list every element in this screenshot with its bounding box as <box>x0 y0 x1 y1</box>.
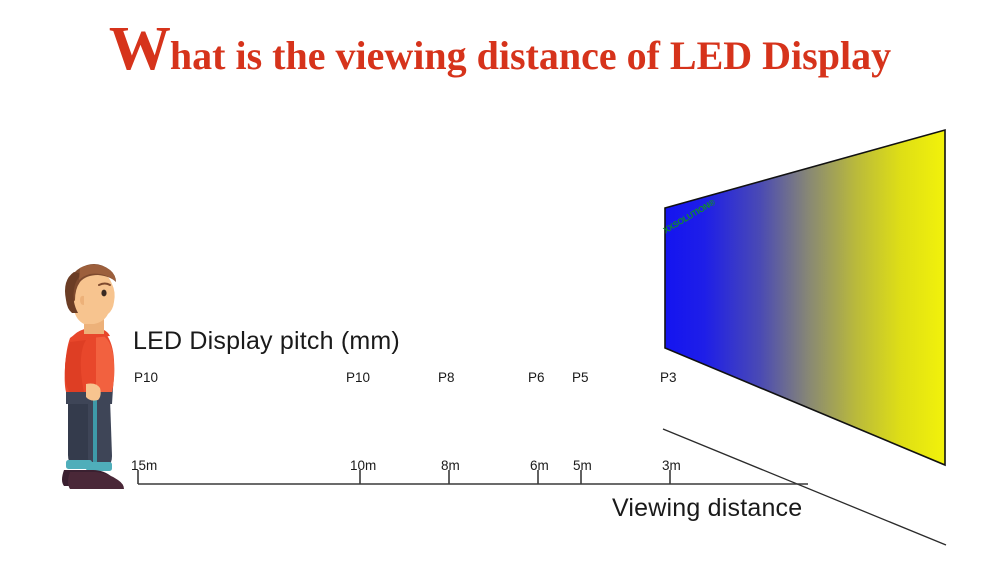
person-sock-front <box>86 462 112 471</box>
pitch-axis-label: LED Display pitch (mm) <box>133 327 400 356</box>
diagram-svg <box>0 0 1000 563</box>
distance-label-5: 5m <box>573 458 592 473</box>
distance-axis <box>138 470 808 484</box>
person-shoe-front <box>68 472 124 489</box>
distance-axis-label: Viewing distance <box>612 494 802 523</box>
pitch-label-2: P10 <box>346 370 370 385</box>
distance-label-1: 15m <box>131 458 157 473</box>
person-eye <box>101 290 106 297</box>
diagram-scene <box>0 0 1000 563</box>
person-front-leg <box>88 398 112 466</box>
led-screen <box>665 130 945 465</box>
person-figure <box>62 264 124 489</box>
person-shirt-highlight <box>96 332 114 392</box>
pitch-label-4: P6 <box>528 370 545 385</box>
pitch-label-6: P3 <box>660 370 677 385</box>
pitch-label-3: P8 <box>438 370 455 385</box>
distance-label-3: 8m <box>441 458 460 473</box>
pitch-label-1: P10 <box>134 370 158 385</box>
distance-label-2: 10m <box>350 458 376 473</box>
distance-label-4: 6m <box>530 458 549 473</box>
pitch-label-5: P5 <box>572 370 589 385</box>
led-screen-panel <box>665 130 945 465</box>
distance-label-6: 3m <box>662 458 681 473</box>
